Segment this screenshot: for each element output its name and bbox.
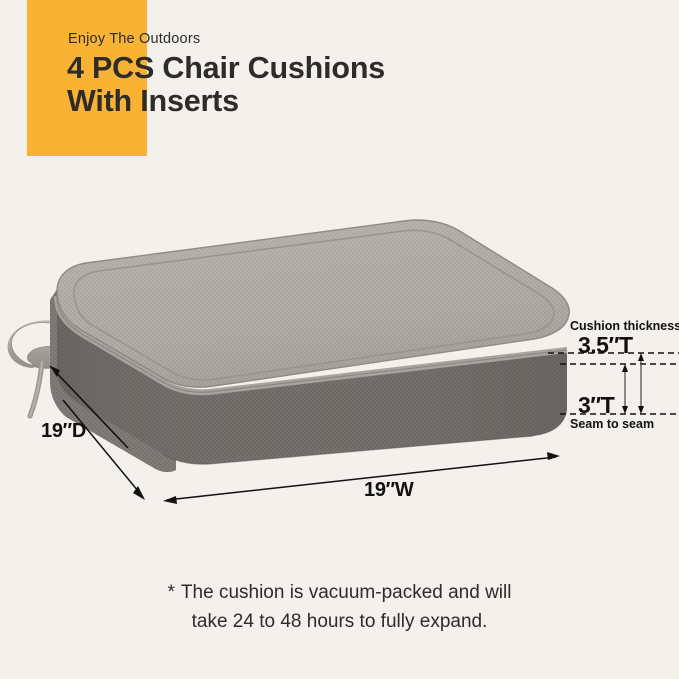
cushion-thickness-value: 3.5″T	[578, 332, 633, 359]
seam-to-seam-label: Seam to seam	[570, 417, 654, 431]
footnote-line-1: *The cushion is vacuum-packed and will	[0, 578, 679, 607]
footnote: *The cushion is vacuum-packed and will t…	[0, 578, 679, 636]
seam-to-seam-value: 3″T	[578, 392, 614, 419]
cushion-thickness-label: Cushion thickness	[570, 319, 679, 333]
depth-label: 19″D	[41, 420, 86, 443]
footnote-text-1: The cushion is vacuum-packed and will	[181, 582, 512, 603]
footnote-asterisk: *	[168, 582, 181, 603]
footnote-line-2: take 24 to 48 hours to fully expand.	[0, 607, 679, 636]
infographic-canvas: Enjoy The Outdoors 4 PCS Chair Cushions …	[0, 0, 679, 679]
width-label: 19″W	[364, 479, 414, 502]
